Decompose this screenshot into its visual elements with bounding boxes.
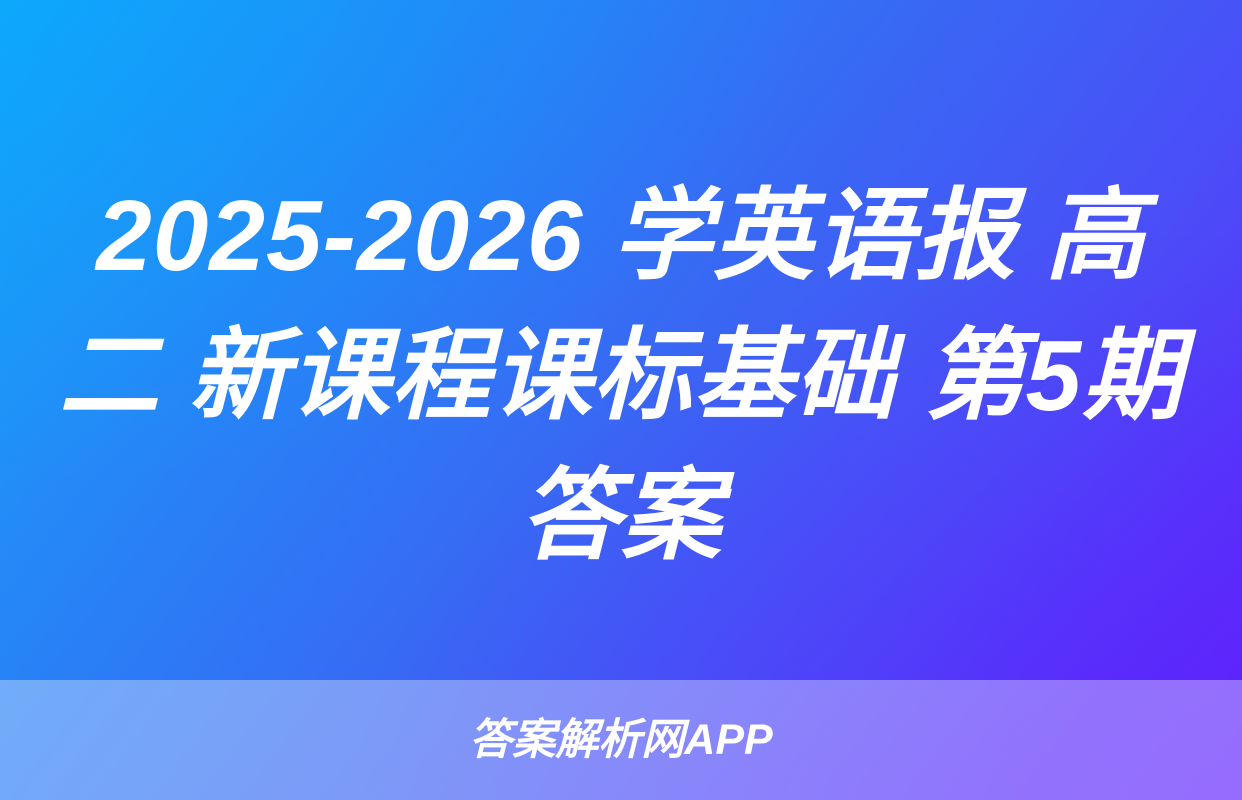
title-block: 2025-2026 学英语报 高二 新课程课标基础 第5期答案 (0, 166, 1242, 586)
page-title: 2025-2026 学英语报 高二 新课程课标基础 第5期答案 (46, 166, 1196, 586)
footer-brand-band[interactable]: 答案解析网APP (0, 680, 1242, 800)
app-brand-label: 答案解析网APP (469, 719, 772, 762)
share-card: 2025-2026 学英语报 高二 新课程课标基础 第5期答案 答案解析网APP (0, 0, 1242, 800)
